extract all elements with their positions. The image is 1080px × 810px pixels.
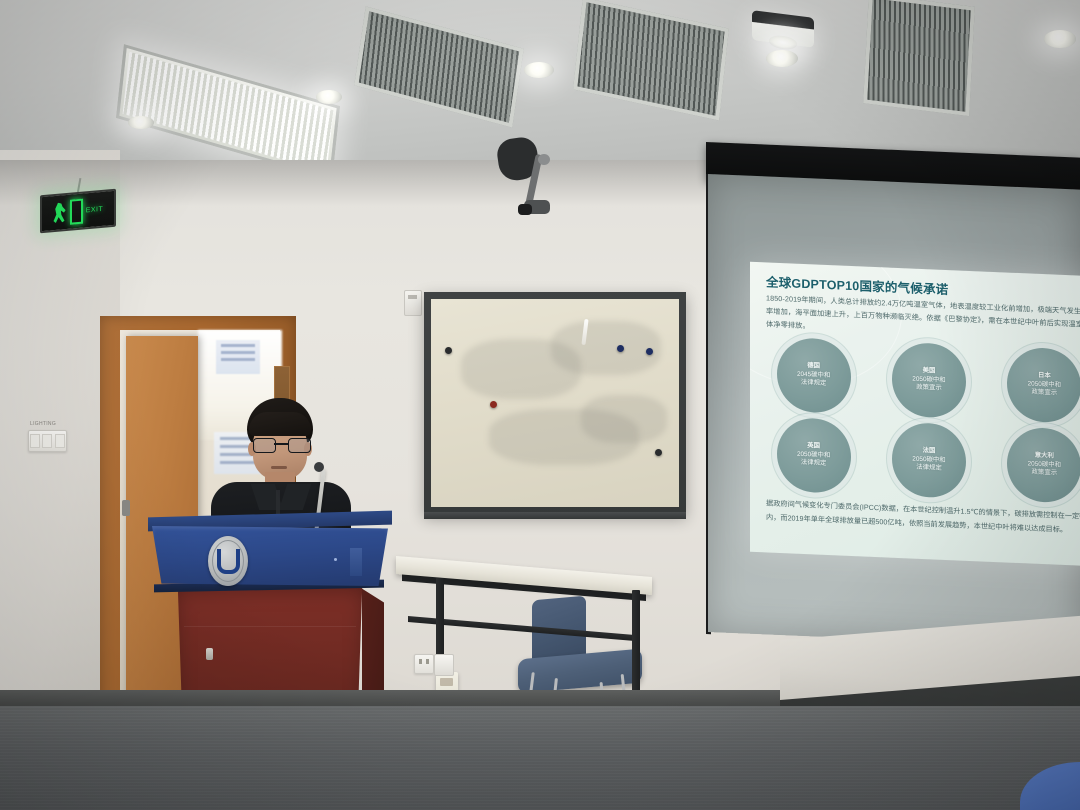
speaker-glasses: [253, 438, 309, 451]
speaker-mouth: [271, 466, 287, 469]
wall-thermostat-box[interactable]: [404, 290, 422, 316]
ceiling-vent-center-right: [573, 0, 729, 120]
whiteboard-smudge: [581, 395, 667, 443]
speaker-fringe: [249, 412, 311, 436]
country-status: 政策宣示: [916, 384, 942, 394]
downlight-1: [128, 116, 154, 129]
whiteboard-smudge: [551, 321, 661, 375]
vent-grille: [359, 11, 519, 122]
running-person-icon: [53, 202, 67, 223]
downlight-3: [524, 62, 554, 78]
country-circle-uk: 英国 2050碳中和 法律规定: [777, 417, 851, 494]
emergency-exit-sign: EXIT: [40, 189, 116, 234]
slide-footnote: 据政府间气候变化专门委员会(IPCC)数据，在本世纪控制温升1.5℃的情景下，碳…: [766, 496, 1080, 537]
glasses-bridge: [274, 443, 288, 445]
whiteboard-surface: [431, 299, 679, 507]
downlight-5: [1044, 30, 1076, 48]
ceiling-vent-center-left: [354, 6, 524, 127]
podium-seam: [184, 626, 356, 627]
country-status: 法律规定: [801, 379, 827, 389]
podium-indicator-led: [334, 558, 337, 561]
light-switch-1[interactable]: [30, 434, 40, 448]
podium-control-plate[interactable]: [350, 548, 362, 576]
university-emblem: [208, 536, 248, 586]
projection-screen-surface: 全球GDPTOP10国家的气候承诺 1850-2019年期间，人类总计排放约2.…: [708, 174, 1080, 648]
podium-lock[interactable]: [206, 648, 213, 660]
light-switch-2[interactable]: [42, 434, 52, 448]
light-switch-3[interactable]: [55, 434, 65, 448]
whiteboard-magnet-black[interactable]: [445, 347, 452, 354]
emblem-letter-u-icon: [217, 549, 240, 574]
exit-sign-label: EXIT: [86, 205, 104, 214]
ceiling-vent-right: [863, 0, 975, 116]
camera-knob: [538, 154, 550, 165]
glasses-lens-left: [253, 438, 276, 453]
surface-mounted-ceiling-light: [752, 10, 814, 48]
projection-screen: 全球GDPTOP10国家的气候承诺 1850-2019年期间，人类总计排放约2.…: [706, 142, 1080, 646]
country-status: 法律规定: [916, 464, 942, 474]
camera-lens-icon: [518, 204, 532, 215]
ceiling-camera-mount: [498, 138, 558, 228]
whiteboard: [424, 292, 686, 514]
projected-slide: 全球GDPTOP10国家的气候承诺 1850-2019年期间，人类总计排放约2.…: [750, 262, 1080, 567]
floor: [0, 706, 1080, 810]
whiteboard-magnet-red[interactable]: [490, 401, 497, 408]
slide-paragraph: 1850-2019年期间，人类总计排放约2.4万亿吨温室气体，地表温度较工业化前…: [766, 292, 1080, 344]
whiteboard-magnet-blue[interactable]: [646, 348, 653, 355]
downlight-4: [766, 50, 798, 67]
vent-grille: [577, 2, 724, 115]
country-status: 政策宣示: [1032, 389, 1058, 399]
whiteboard-magnet-black[interactable]: [655, 449, 662, 456]
country-status: 法律规定: [801, 459, 827, 469]
light-switch-panel[interactable]: [28, 430, 67, 452]
emblem-inner-ring: [212, 540, 244, 582]
exit-door-icon: [70, 198, 83, 224]
country-circle-germany: 德国 2045碳中和 法律规定: [777, 337, 851, 414]
country-status: 政策宣示: [1032, 469, 1058, 479]
door-handle[interactable]: [122, 500, 130, 516]
country-circle-italy: 意大利 2050碳中和 政策宣示: [1007, 427, 1080, 504]
glasses-lens-right: [288, 438, 311, 453]
country-circle-japan: 日本 2050碳中和 政策宣示: [1007, 347, 1080, 424]
country-pledge-circles: 德国 2045碳中和 法律规定 美国 2050碳中和 政策宣示 日本 2050碳…: [764, 336, 1080, 504]
light-switch-label: LIGHTING: [30, 421, 56, 427]
corridor-poster-upper: [216, 340, 260, 374]
whiteboard-tray: [424, 512, 686, 519]
vent-grille: [867, 0, 970, 112]
lecture-hall-photo: EXIT LIGHTING: [0, 0, 1080, 810]
whiteboard-magnet-blue[interactable]: [617, 345, 624, 352]
downlight-2: [316, 90, 342, 104]
country-circle-usa: 美国 2050碳中和 政策宣示: [892, 342, 966, 419]
country-circle-france: 法国 2050碳中和 法律规定: [892, 422, 966, 499]
wall-outlet-center[interactable]: [414, 654, 434, 674]
louvre-grille: [123, 52, 334, 173]
wall-switch-blank-center[interactable]: [434, 654, 454, 676]
